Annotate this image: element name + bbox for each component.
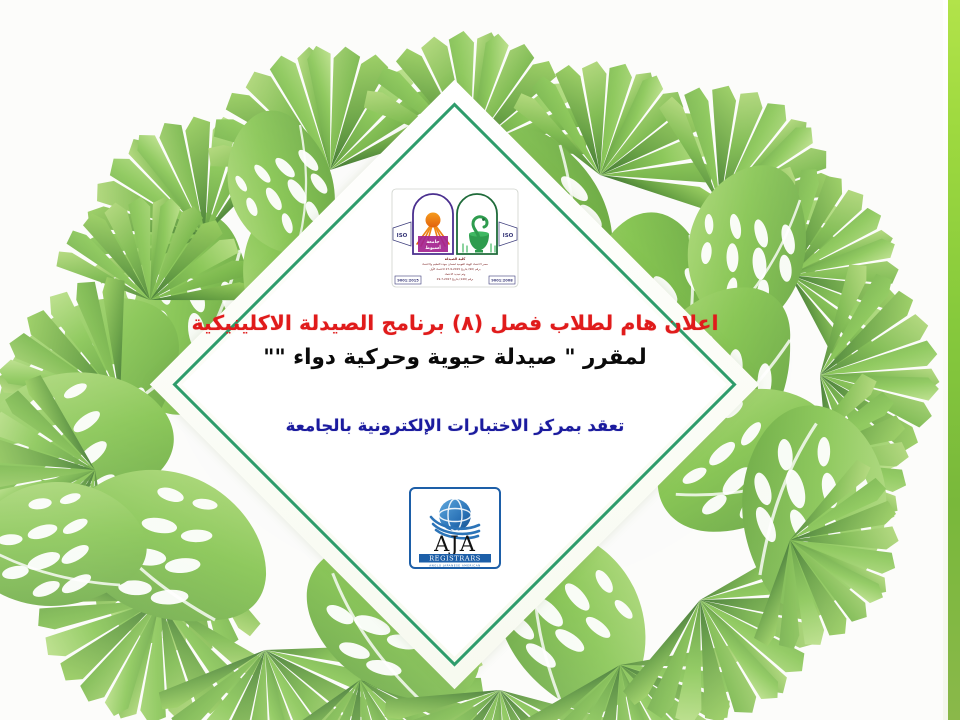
svg-text:9001:2015: 9001:2015: [397, 279, 419, 283]
svg-text:ISO: ISO: [397, 233, 408, 239]
svg-text:مصر الاعتماد الهيئة القومية لض: مصر الاعتماد الهيئة القومية لضمان جودة ا…: [422, 262, 488, 266]
slide-content: ISO ISO: [150, 80, 760, 690]
aja-wordmark: AJA: [433, 532, 476, 556]
announcement-subject: لمقرر " صيدلة حيوية وحركية دواء "": [175, 343, 735, 372]
svg-text:برقم (90) بتاريخ 2015-9-27 الا: برقم (90) بتاريخ 2015-9-27 الاعتماد الأو…: [430, 267, 481, 271]
sun-starburst-shield-icon: جامعة أسيوط: [413, 194, 453, 254]
svg-text:ISO: ISO: [503, 233, 514, 239]
svg-text:أسيوط: أسيوط: [425, 244, 441, 251]
bowl-of-hygieia-shield-icon: [457, 194, 497, 254]
edge-strip-green: [948, 0, 960, 720]
registrars-label: REGISTRARS: [429, 554, 481, 562]
announcement-text-block: اعلان هام لطلاب فصل (٨) برنامج الصيدلة ا…: [175, 310, 735, 437]
svg-text:جامعة: جامعة: [426, 240, 439, 245]
aja-tagline: ANGLO JAPANESE AMERICAN: [429, 563, 480, 567]
announcement-headline: اعلان هام لطلاب فصل (٨) برنامج الصيدلة ا…: [175, 310, 735, 337]
announcement-venue: تعقد بمركز الاختبارات الإلكترونية بالجام…: [175, 414, 735, 437]
svg-text:9001:2008: 9001:2008: [491, 279, 513, 283]
svg-text:وتم تجديد الاعتماد: وتم تجديد الاعتماد: [445, 272, 466, 276]
aja-registrars-logo: AJA REGISTRARS ANGLO JAPANESE AMERICAN: [409, 487, 501, 569]
svg-text:برقم (149) بتاريخ 2017-7-29: برقم (149) بتاريخ 2017-7-29: [437, 277, 474, 281]
announcement-slide: ISO ISO: [0, 0, 960, 720]
university-logo: ISO ISO: [391, 188, 519, 288]
svg-text:كلية الصيدلة: كلية الصيدلة: [445, 257, 465, 261]
